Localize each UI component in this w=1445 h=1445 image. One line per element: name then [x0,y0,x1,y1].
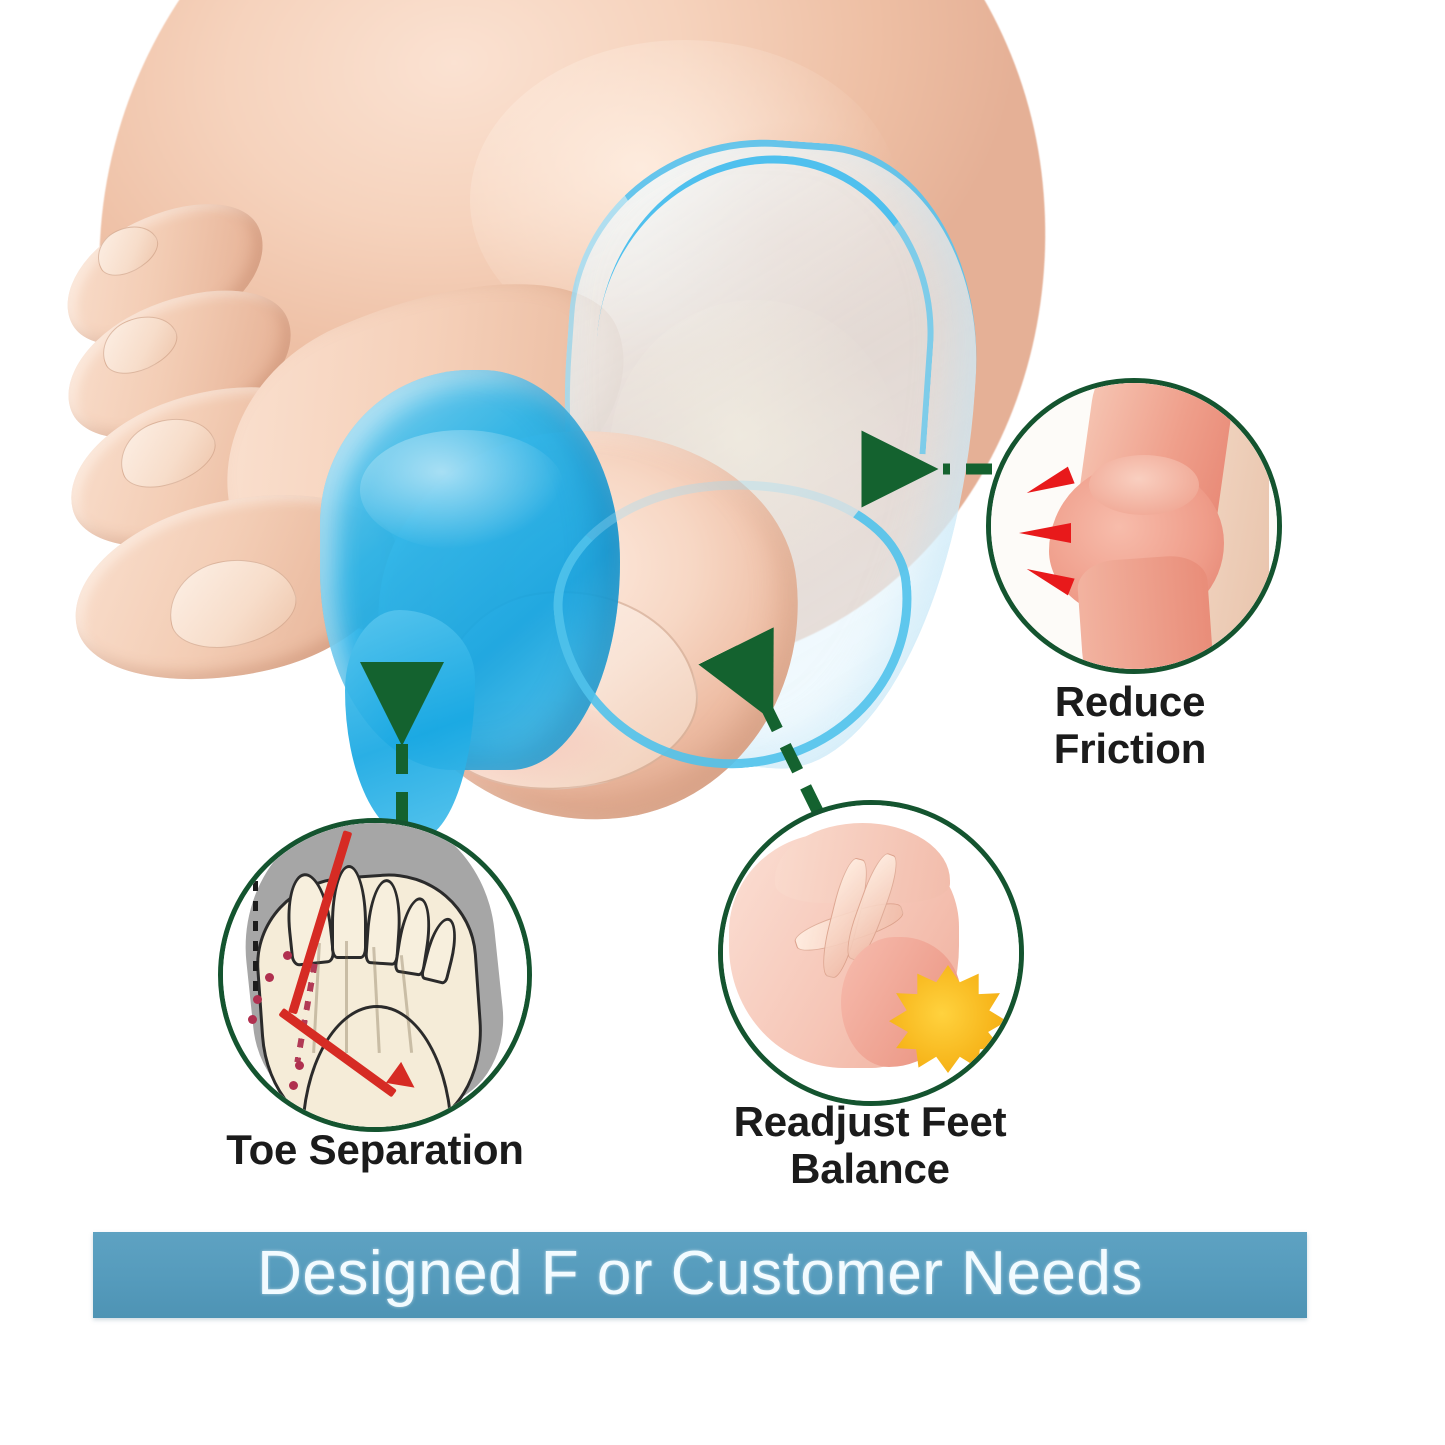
blue-gel-stem [345,610,475,840]
pain-ray-icon [1019,523,1071,543]
pressure-bead [248,1015,257,1024]
feature-icon-reduce-friction [986,378,1282,674]
product-infographic: Reduce Friction [0,0,1445,1445]
feature-label-line1: Toe Separation [150,1126,600,1173]
blue-gel-highlight [360,430,565,550]
feature-label-line1: Readjust Feet [690,1098,1050,1145]
feature-label-line2: Balance [690,1145,1050,1192]
inflamed-joint-icon [991,383,1277,669]
pressure-bead [295,1061,304,1070]
feature-label-readjust-feet-balance: Readjust Feet Balance [690,1098,1050,1192]
foot-pain-burst-icon [723,805,1019,1101]
foot-deviation-diagram-icon [223,823,527,1127]
feature-label-line1: Reduce [955,678,1305,725]
joint-lower-segment [1076,554,1216,674]
feature-label-reduce-friction: Reduce Friction [955,678,1305,772]
tagline-text: Designed F or Customer Needs [93,1243,1307,1305]
feature-label-line2: Friction [955,725,1305,772]
pressure-bead [265,973,274,982]
feature-label-toe-separation: Toe Separation [150,1126,600,1173]
pressure-bead [253,995,262,1004]
joint-capsule [1089,455,1199,515]
tagline-banner: Designed F or Customer Needs [93,1232,1307,1318]
feature-icon-toe-separation [218,818,532,1132]
feature-icon-readjust-feet-balance [718,800,1024,1106]
alignment-dashed-line [253,881,258,1001]
pressure-bead [283,951,292,960]
pressure-bead [289,1081,298,1090]
